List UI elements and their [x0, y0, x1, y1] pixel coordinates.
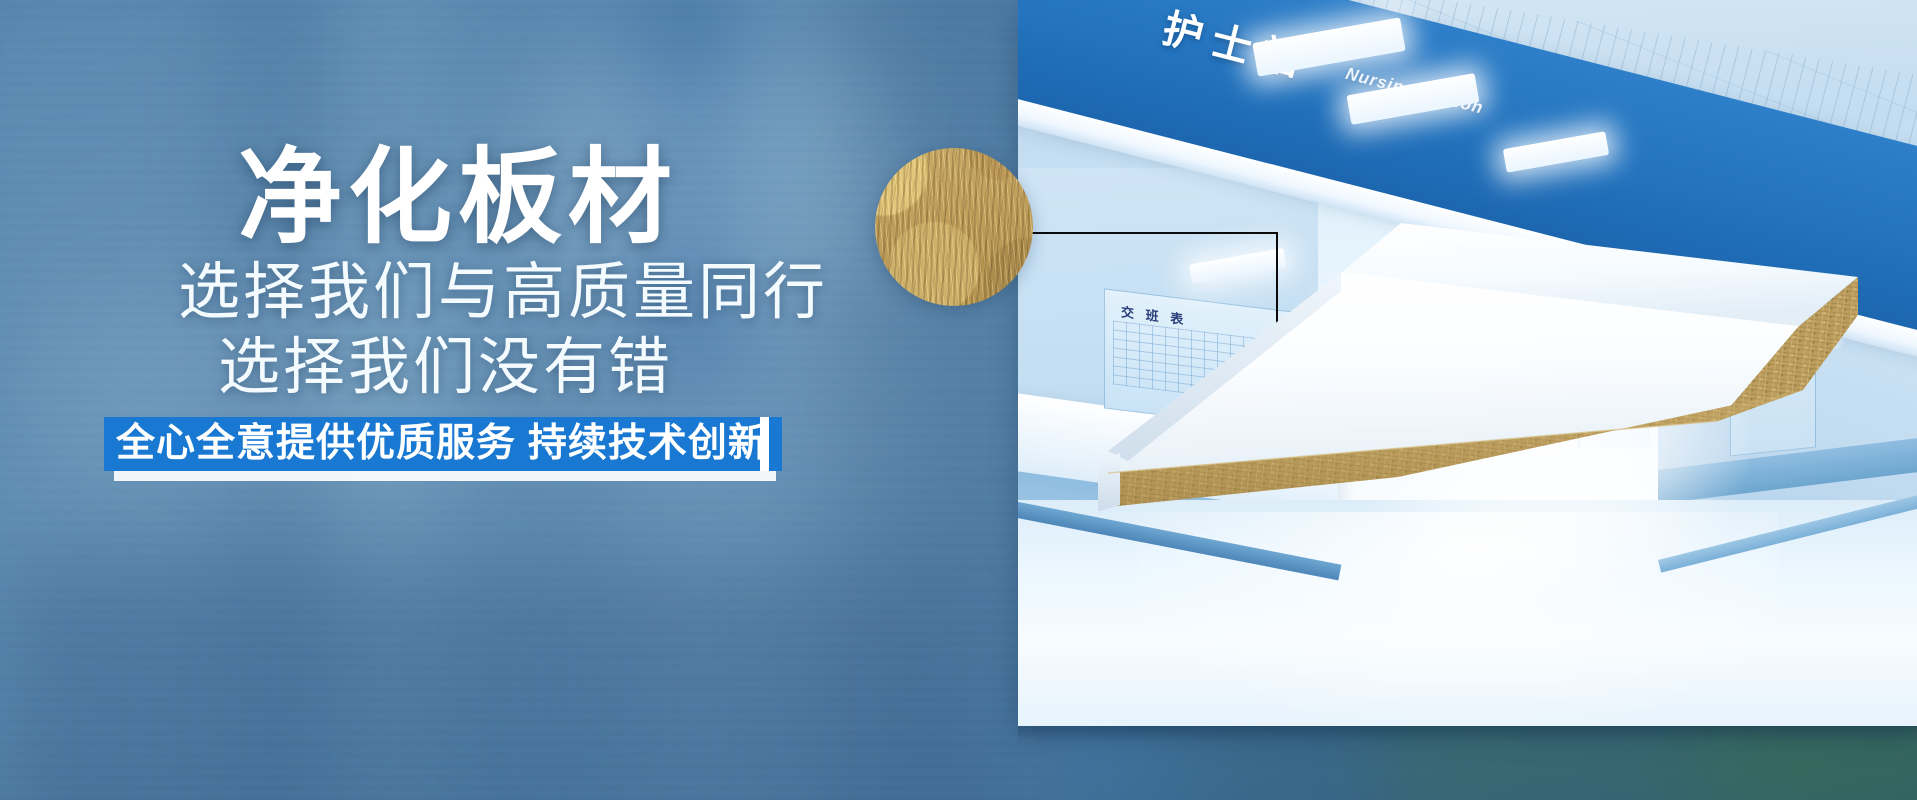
banner-copy: 净化板材 选择我们与高质量同行 选择我们没有错 全心全意提供优质服务 持续技术创…	[0, 0, 1010, 800]
promo-banner: 交 班 表 护士站 Nursing Station	[0, 0, 1917, 800]
banner-tagline-wrapper: 全心全意提供优质服务 持续技术创新	[104, 417, 782, 471]
photo-drop-shadow	[1018, 726, 1917, 742]
banner-subtitle-line2: 选择我们没有错	[218, 333, 673, 404]
banner-subtitle-line1: 选择我们与高质量同行	[178, 258, 828, 329]
hospital-corridor-photo: 交 班 表 护士站 Nursing Station	[1018, 0, 1917, 726]
banner-tagline: 全心全意提供优质服务 持续技术创新	[104, 417, 782, 471]
corridor-light-glow	[1348, 270, 1748, 590]
banner-headline: 净化板材	[238, 140, 678, 256]
tagline-end-tick	[760, 417, 769, 471]
callout-connector-box	[1018, 232, 1278, 380]
